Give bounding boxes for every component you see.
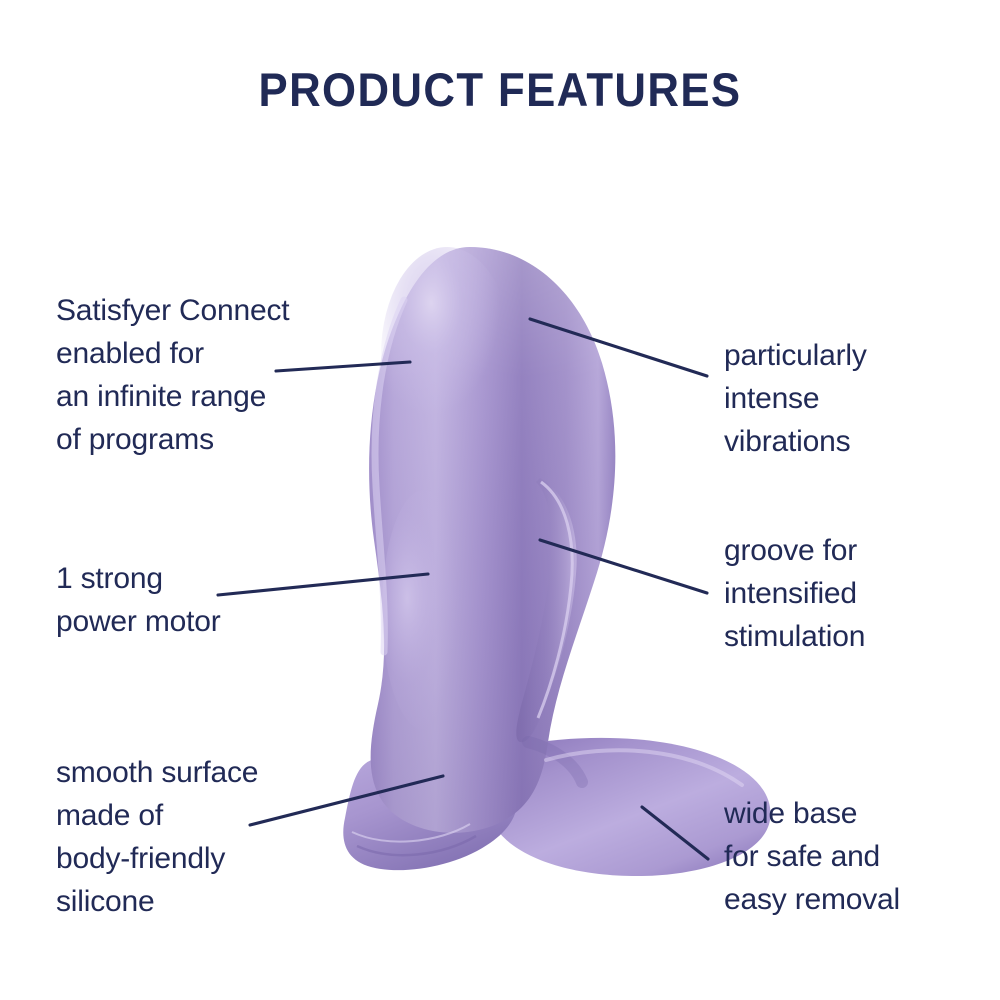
callout-power-motor: 1 strong power motor <box>56 558 221 644</box>
callout-groove-stimulation: groove for intensified stimulation <box>724 530 865 659</box>
product-highlight-bulb <box>381 247 513 463</box>
callout-intense-vibrations: particularly intense vibrations <box>724 335 867 464</box>
product-features-infographic: PRODUCT FEATURES <box>0 0 1000 1000</box>
product-highlight-shaft <box>382 490 466 730</box>
callout-smooth-surface-silicone: smooth surface made of body-friendly sil… <box>56 752 258 924</box>
callout-satisfyer-connect: Satisfyer Connect enabled for an infinit… <box>56 290 289 462</box>
callout-wide-base-removal: wide base for safe and easy removal <box>724 793 900 922</box>
